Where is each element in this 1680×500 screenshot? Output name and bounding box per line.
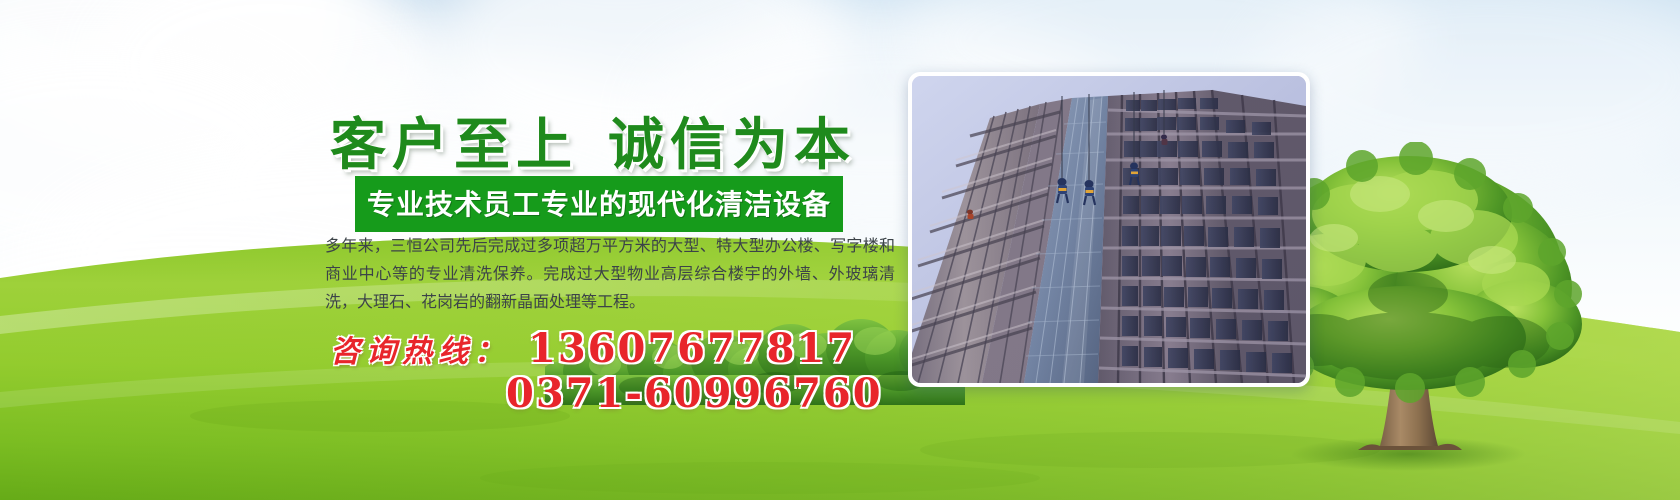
- page-title: 客户至上诚信为本: [330, 100, 856, 181]
- description-paragraph: 多年来，三恒公司先后完成过多项超万平方米的大型、特大型办公楼、写字楼和商业中心等…: [325, 232, 895, 316]
- hotline-row: 咨询热线：13607677817: [330, 325, 856, 372]
- building-photo: [912, 76, 1306, 383]
- promo-banner: 客户至上诚信为本 专业技术员工专业的现代化清洁设备 多年来，三恒公司先后完成过多…: [0, 0, 1680, 500]
- subtitle-bar: 专业技术员工专业的现代化清洁设备: [355, 176, 843, 232]
- building-photo-card[interactable]: [908, 72, 1310, 387]
- hotline-label: 咨询热线：: [330, 335, 510, 370]
- description-text: 多年来，三恒公司先后完成过多项超万平方米的大型、特大型办公楼、写字楼和商业中心等…: [325, 232, 895, 316]
- hotline-mobile-number[interactable]: 13607677817: [528, 325, 856, 372]
- headline-part-2: 诚信为本: [608, 112, 856, 178]
- subtitle-text: 专业技术员工专业的现代化清洁设备: [367, 188, 831, 221]
- headline-part-1: 客户至上: [330, 112, 578, 178]
- hotline-landline-number[interactable]: 0371-60996760: [506, 370, 883, 417]
